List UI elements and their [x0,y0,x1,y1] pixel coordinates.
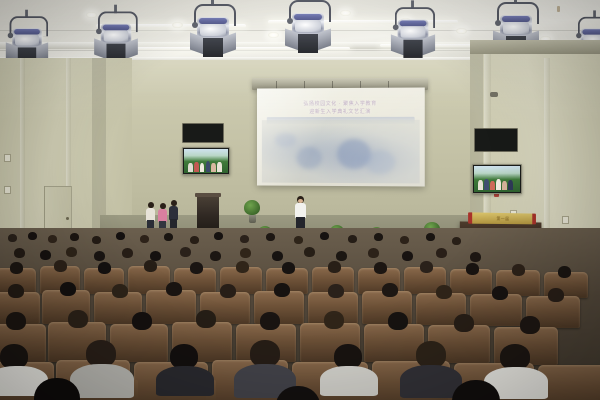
screen-glare [257,87,425,186]
projection-screen[interactable]: 弘扬校园文化 · 聚焦入学教育 迎新生入学典礼文艺汇演 [257,87,425,186]
audience-seating [0,228,600,400]
downlight [172,22,183,28]
lectern[interactable] [197,196,219,230]
auditorium-photo: 弘扬校园文化 · 聚焦入学教育 迎新生入学典礼文艺汇演 [0,0,600,400]
wall-outlet [4,154,11,162]
monitor-right-figures [477,177,517,191]
monitor-left-upper-panel [182,123,224,143]
downlight [268,32,279,38]
ceiling-camera [490,92,498,97]
right-soffit [470,40,600,54]
table-banner-text: 第一届 [472,212,532,224]
wall-outlet [4,186,11,194]
stage-spotlight [94,11,138,62]
stage-spotlight [285,0,331,54]
monitor-left-figures [187,159,226,171]
stage-spotlight [190,4,236,58]
monitor-left-image [184,149,228,173]
wall-outlet [562,216,569,224]
monitor-right-upper-panel [474,128,518,152]
downlight [340,10,351,16]
downlight [456,28,467,34]
monitor-right[interactable] [472,164,522,194]
sprinkler-head [557,6,560,12]
table-banner: 第一届 [468,212,536,224]
monitor-left[interactable] [182,147,230,175]
monitor-right-image [474,166,520,192]
stage-spotlight [391,7,435,59]
potted-plant [244,200,260,224]
